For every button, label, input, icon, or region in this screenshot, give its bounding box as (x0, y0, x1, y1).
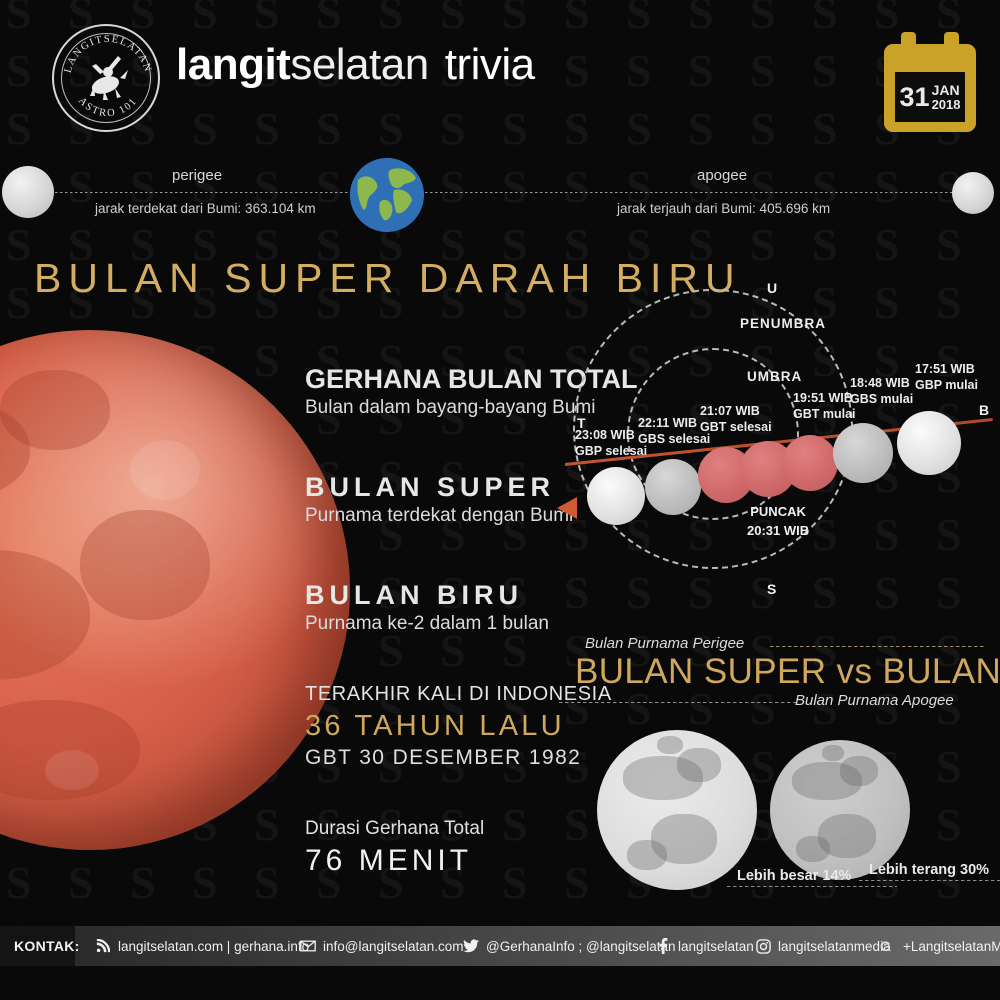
langitselatan-logo-badge: LANGITSELATAN ASTRO 101 (52, 24, 160, 132)
axis-label-selatan: S (767, 581, 776, 597)
footer-facebook-text: langitselatan (678, 939, 754, 954)
duration-value: 76 MENIT (305, 844, 484, 878)
footer-website[interactable]: langitselatan.com | gerhana.info (95, 926, 309, 966)
phase-moon-gbp-mulai (897, 411, 961, 475)
footer-bottom-strip (0, 966, 1000, 1000)
envelope-icon (300, 938, 316, 954)
compare-bottom-divider (559, 702, 797, 703)
peak-label: PUNCAK (750, 504, 806, 519)
brand-light: selatan (290, 40, 428, 89)
axis-label-utara: U (767, 280, 777, 296)
rss-icon (95, 938, 111, 954)
phase-moon-gbs-mulai (833, 423, 893, 483)
direction-arrow-icon (557, 497, 577, 519)
instagram-icon (755, 938, 771, 954)
fact-block-bulan-super: BULAN SUPER Purnama terdekat dengan Bumi (305, 472, 573, 527)
calendar-year: 2018 (932, 98, 961, 112)
infographic-canvas: SSSSSSSSSSSSSSSSSSSSSSSSSSSSSSSSSSSSSSSS… (0, 0, 1000, 1000)
caption-bigger-percent: Lebih besar 14% (737, 868, 851, 884)
orbit-dotted-line (20, 192, 980, 194)
kontak-label: KONTAK: (14, 926, 80, 966)
calendar-date-badge: 31 JAN 2018 (884, 32, 976, 132)
footer-facebook[interactable]: langitselatan (655, 926, 754, 966)
calendar-month-year: JAN 2018 (932, 83, 961, 111)
phase-label-gbt-selesai: 21:07 WIB GBT selesai (700, 403, 772, 436)
compare-caption-divider-2 (859, 880, 1000, 881)
apogee-moon-icon (952, 172, 994, 214)
supermoon-vs-minimoon-section: Bulan Purnama Perigee BULAN SUPER vs BUL… (555, 630, 1000, 900)
phase-label-gbp-selesai: 23:08 WIB GBP selesai (575, 427, 647, 460)
footer-instagram[interactable]: langitselatanmedia (755, 926, 891, 966)
fact-sub: Purnama terdekat dengan Bumi (305, 505, 573, 527)
apogee-label: apogee (697, 167, 747, 184)
axis-label-barat: B (979, 402, 989, 418)
calendar-month: JAN (932, 83, 961, 98)
svg-text:ASTRO 101: ASTRO 101 (76, 95, 140, 119)
twitter-icon (463, 938, 479, 954)
svg-text:G: G (880, 938, 891, 954)
penumbra-label: PENUMBRA (740, 316, 826, 331)
footer-googleplus-text: +LangitselatanMedia (903, 939, 1000, 954)
peak-time: 20:31 WIB (747, 523, 809, 538)
calendar-body: 31 JAN 2018 (884, 44, 976, 132)
phase-moon-gbs-selesai (645, 459, 701, 515)
fact-heading: BULAN BIRU (305, 580, 549, 611)
minimoon-illustration (770, 740, 910, 880)
compare-caption-divider-1 (727, 886, 897, 887)
duration-block: Durasi Gerhana Total 76 MENIT (305, 818, 484, 878)
caption-brighter-percent: Lebih terang 30% (869, 862, 989, 878)
perigee-moon-icon (2, 166, 54, 218)
earth-icon (350, 158, 424, 232)
compare-top-divider (770, 646, 985, 647)
footer-twitter-text: @GerhanaInfo ; @langitselatan (486, 939, 676, 954)
calendar-day: 31 (900, 84, 930, 111)
peak-label-group: PUNCAK 20:31 WIB (747, 503, 809, 541)
compare-title: BULAN SUPER vs BULAN MINI (575, 652, 1000, 692)
compare-top-caption: Bulan Purnama Perigee (585, 635, 744, 652)
brand-bold: langit (176, 40, 290, 89)
phase-label-gbs-mulai: 18:48 WIB GBS mulai (850, 375, 913, 408)
fact-heading: BULAN SUPER (305, 472, 573, 503)
compare-bottom-caption: Bulan Purnama Apogee (795, 692, 954, 709)
phase-moon-gbt-mulai (782, 435, 838, 491)
apogee-distance: jarak terjauh dari Bumi: 405.696 km (617, 201, 830, 216)
supermoon-illustration (597, 730, 757, 890)
brand-word: trivia (445, 40, 535, 89)
calendar-screen: 31 JAN 2018 (895, 72, 965, 122)
phase-label-gbp-mulai: 17:51 WIB GBP mulai (915, 361, 978, 394)
fact-sub: Purnama ke-2 dalam 1 bulan (305, 613, 549, 635)
footer-email-text: info@langitselatan.com (323, 939, 464, 954)
umbra-label: UMBRA (747, 369, 802, 384)
logo-rider-icon: LANGITSELATAN ASTRO 101 (54, 26, 162, 134)
facebook-icon (655, 938, 671, 954)
phase-label-gbt-mulai: 19:51 WIB GBT mulai (793, 390, 856, 423)
eclipse-shadow-diagram: PENUMBRA UMBRA U S T B 23:08 WIB GBP sel… (555, 275, 1000, 605)
footer-email[interactable]: info@langitselatan.com (300, 926, 464, 966)
footer-twitter[interactable]: @GerhanaInfo ; @langitselatan (463, 926, 676, 966)
footer-instagram-text: langitselatanmedia (778, 939, 891, 954)
fact-block-bulan-biru: BULAN BIRU Purnama ke-2 dalam 1 bulan (305, 580, 549, 635)
footer-website-text: langitselatan.com | gerhana.info (118, 939, 309, 954)
blood-moon-illustration (0, 330, 350, 850)
contact-footer-bar: KONTAK: langitselatan.com | gerhana.info… (0, 926, 1000, 966)
perigee-distance: jarak terdekat dari Bumi: 363.104 km (95, 201, 316, 216)
duration-caption: Durasi Gerhana Total (305, 818, 484, 840)
google-plus-icon: G (880, 938, 896, 954)
brand-title: langitselatantrivia (176, 40, 535, 90)
perigee-label: perigee (172, 167, 222, 184)
phase-moon-gbp-selesai (587, 467, 645, 525)
footer-googleplus[interactable]: G +LangitselatanMedia (880, 926, 1000, 966)
